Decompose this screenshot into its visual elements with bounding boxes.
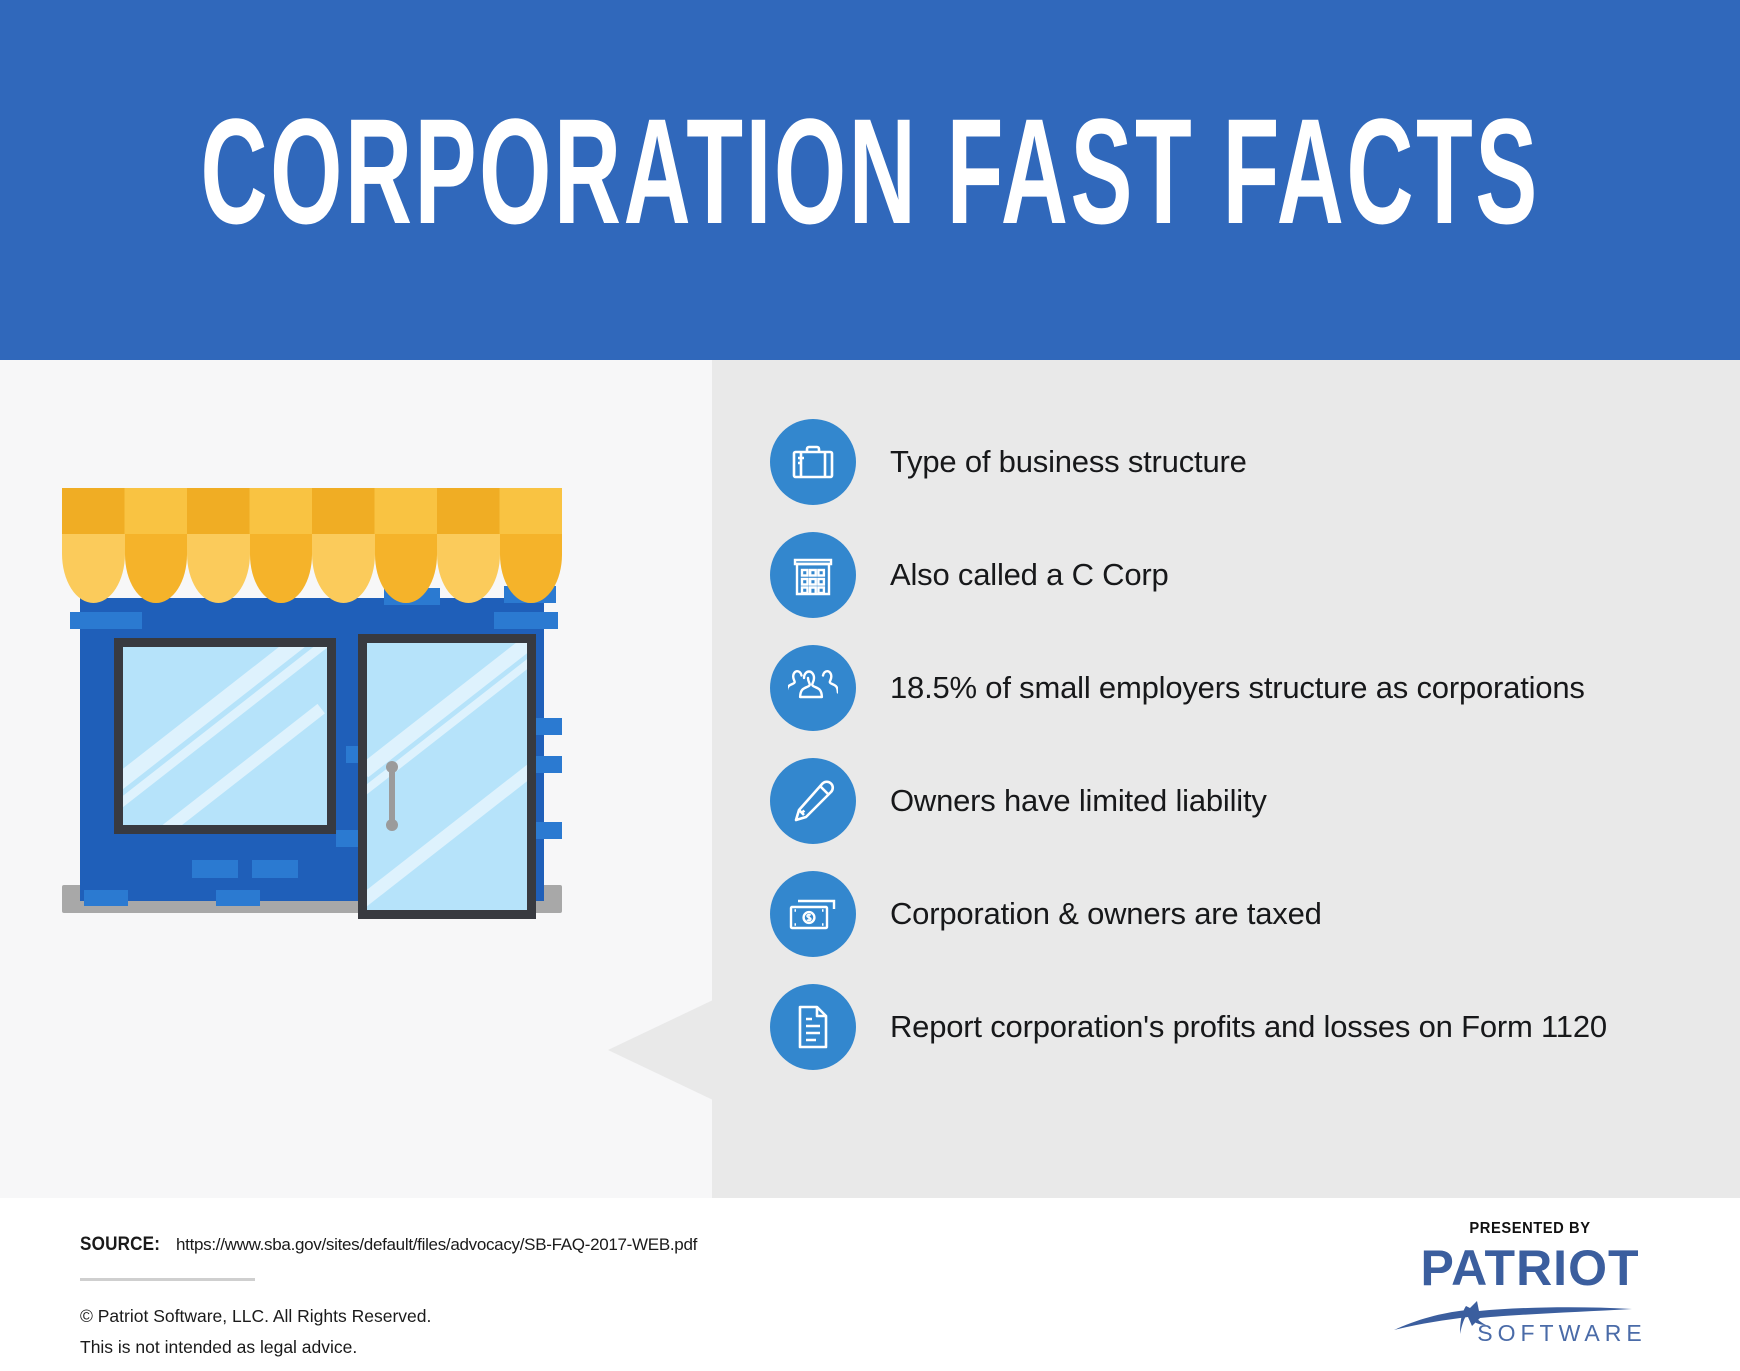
footer-divider: [80, 1278, 255, 1281]
shop-door: [358, 634, 536, 919]
brick: [84, 890, 128, 906]
door-handle[interactable]: [389, 767, 395, 825]
source-line: SOURCE: https://www.sba.gov/sites/defaul…: [80, 1234, 697, 1256]
office-building-icon: [770, 532, 856, 618]
shop-window: [114, 638, 336, 834]
logo-wordmark: PATRIOT: [1380, 1243, 1680, 1293]
fact-text: 18.5% of small employers structure as co…: [890, 670, 1585, 706]
brick: [192, 860, 238, 878]
illustration-panel: [0, 360, 712, 1198]
glass-shine: [367, 643, 527, 777]
source-url[interactable]: https://www.sba.gov/sites/default/files/…: [176, 1235, 697, 1255]
patriot-software-logo[interactable]: PRESENTED BY PATRIOT SOFTWARE: [1380, 1220, 1680, 1347]
group-of-people-icon: [770, 645, 856, 731]
brick: [494, 612, 558, 629]
briefcase-icon: [770, 419, 856, 505]
source-label: SOURCE:: [80, 1234, 160, 1256]
page-title: CORPORATION FAST FACTS: [200, 96, 1539, 264]
disclaimer-text: This is not intended as legal advice.: [80, 1332, 697, 1363]
brick: [216, 890, 260, 906]
brick: [532, 822, 562, 839]
copyright-text: © Patriot Software, LLC. All Rights Rese…: [80, 1301, 697, 1332]
fact-text: Owners have limited liability: [890, 783, 1267, 819]
infographic-page: CORPORATION FAST FACTS: [0, 0, 1740, 1371]
header-banner: CORPORATION FAST FACTS: [0, 0, 1740, 360]
shop-awning: [62, 488, 562, 603]
fact-row: Corporation & owners are taxed: [770, 857, 1670, 970]
window-glass: [123, 647, 327, 825]
fact-text: Type of business structure: [890, 444, 1247, 480]
brick: [70, 612, 142, 629]
logo-subtitle: SOFTWARE: [1380, 1320, 1680, 1347]
storefront-illustration: [62, 488, 562, 913]
fact-row: Owners have limited liability: [770, 744, 1670, 857]
brick: [252, 860, 298, 878]
fact-list: Type of business structure Als: [770, 405, 1670, 1083]
awning-top-band: [62, 488, 562, 534]
fact-text: Corporation & owners are taxed: [890, 896, 1322, 932]
fact-row: Report corporation's profits and losses …: [770, 970, 1670, 1083]
document-icon: [770, 984, 856, 1070]
footer: SOURCE: https://www.sba.gov/sites/defaul…: [0, 1198, 1740, 1371]
fact-text: Also called a C Corp: [890, 557, 1169, 593]
source-block: SOURCE: https://www.sba.gov/sites/defaul…: [80, 1234, 697, 1362]
fact-row: 18.5% of small employers structure as co…: [770, 631, 1670, 744]
pencil-icon: [770, 758, 856, 844]
panel-arrow-notch: [608, 1000, 713, 1100]
door-glass: [367, 643, 527, 910]
fact-row: Also called a C Corp: [770, 518, 1670, 631]
fact-text: Report corporation's profits and losses …: [890, 1009, 1607, 1045]
money-banknote-icon: [770, 871, 856, 957]
fact-row: Type of business structure: [770, 405, 1670, 518]
presented-by-label: PRESENTED BY: [1392, 1220, 1668, 1238]
